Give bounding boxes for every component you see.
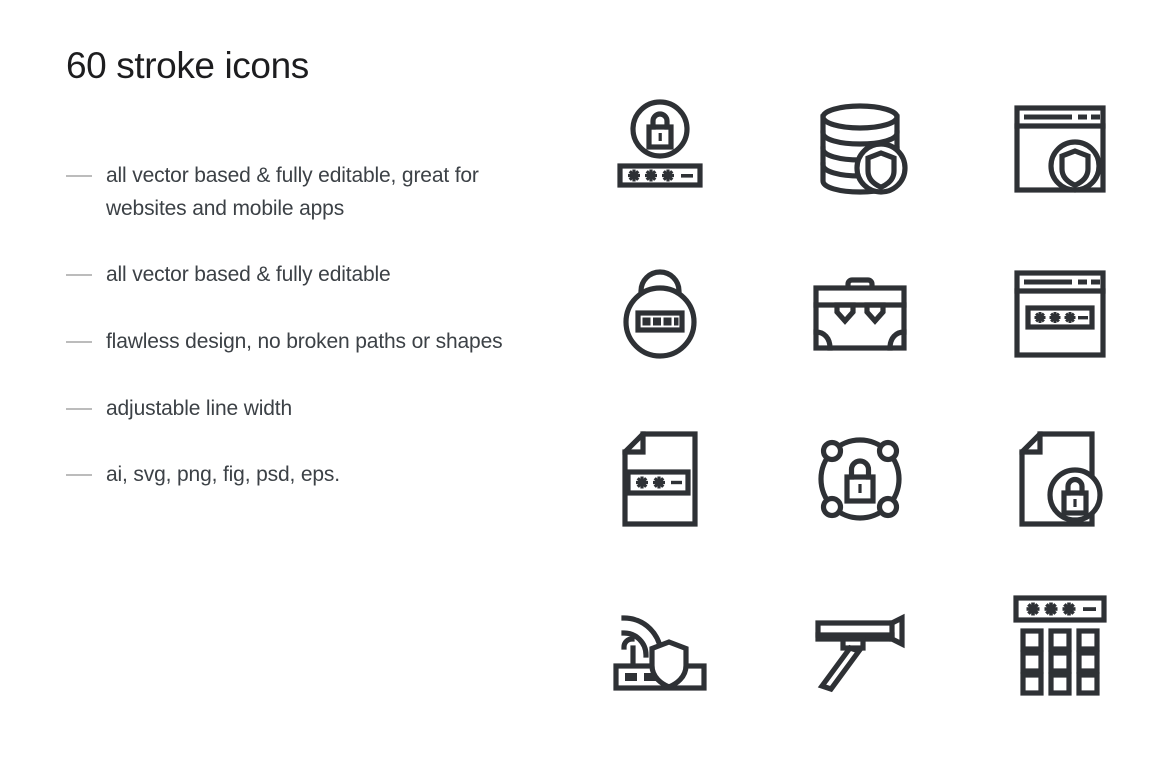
icon-cell[interactable]: [760, 66, 960, 231]
icon-cell[interactable]: [960, 66, 1160, 231]
feature-item: ai, svg, png, fig, psd, eps.: [66, 459, 536, 492]
document-password-icon: [606, 425, 714, 533]
copy-column: 60 stroke icons all vector based & fully…: [66, 44, 536, 526]
feature-item: all vector based & fully editable: [66, 259, 536, 292]
dash-marker-icon: [66, 408, 92, 410]
feature-text: adjustable line width: [106, 393, 292, 426]
icon-cell[interactable]: [560, 66, 760, 231]
icon-cell[interactable]: [760, 231, 960, 396]
dash-marker-icon: [66, 175, 92, 177]
router-shield-icon: [606, 590, 714, 698]
pin-keypad-icon: [1006, 590, 1114, 698]
browser-shield-icon: [1006, 95, 1114, 203]
feature-text: all vector based & fully editable, great…: [106, 160, 506, 225]
icon-cell[interactable]: [960, 396, 1160, 561]
database-shield-icon: [806, 95, 914, 203]
cctv-camera-icon: [806, 590, 914, 698]
icon-cell[interactable]: [960, 561, 1160, 726]
feature-text: ai, svg, png, fig, psd, eps.: [106, 459, 340, 492]
icon-cell[interactable]: [560, 231, 760, 396]
icon-cell[interactable]: [760, 396, 960, 561]
network-lock-icon: [806, 425, 914, 533]
icon-cell[interactable]: [760, 561, 960, 726]
dash-marker-icon: [66, 341, 92, 343]
lock-circle-password-field-icon: [606, 95, 714, 203]
briefcase-icon: [806, 260, 914, 368]
feature-item: adjustable line width: [66, 393, 536, 426]
feature-text: all vector based & fully editable: [106, 259, 391, 292]
browser-password-field-icon: [1006, 260, 1114, 368]
icon-grid: [560, 66, 1160, 726]
icon-cell[interactable]: [960, 231, 1160, 396]
feature-item: flawless design, no broken paths or shap…: [66, 326, 536, 359]
dash-marker-icon: [66, 474, 92, 476]
combination-padlock-icon: [606, 260, 714, 368]
icon-cell[interactable]: [560, 561, 760, 726]
page-title: 60 stroke icons: [66, 44, 536, 88]
icon-cell[interactable]: [560, 396, 760, 561]
feature-item: all vector based & fully editable, great…: [66, 160, 536, 225]
document-lock-badge-icon: [1006, 425, 1114, 533]
feature-list: all vector based & fully editable, great…: [66, 160, 536, 491]
icon-set-preview-page: 60 stroke icons all vector based & fully…: [0, 0, 1170, 780]
feature-text: flawless design, no broken paths or shap…: [106, 326, 502, 359]
dash-marker-icon: [66, 274, 92, 276]
